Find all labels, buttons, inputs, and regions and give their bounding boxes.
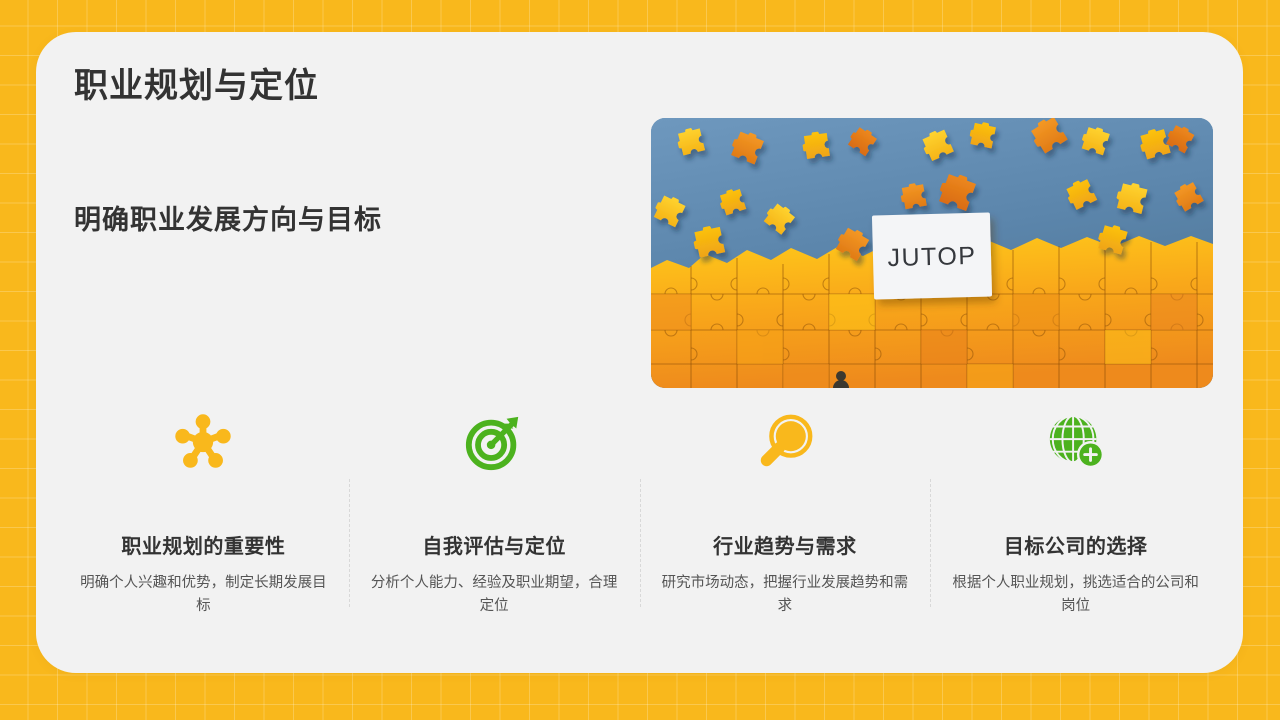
globe-plus-icon [1044, 410, 1108, 474]
feature-title: 职业规划的重要性 [121, 530, 285, 559]
feature-item-industry-trends[interactable]: 行业趋势与需求 研究市场动态，把握行业发展趋势和需求 [640, 402, 931, 632]
feature-item-target-company[interactable]: 目标公司的选择 根据个人职业规划，挑选适合的公司和岗位 [930, 402, 1221, 632]
feature-description: 分析个人能力、经验及职业期望，合理定位 [368, 572, 620, 619]
target-dart-icon [462, 410, 526, 474]
jutop-label: JUTOP [887, 242, 977, 272]
puzzle-photo-graphic: JUTOP [651, 118, 1213, 388]
feature-description: 研究市场动态，把握行业发展趋势和需求 [659, 572, 911, 619]
feature-title: 目标公司的选择 [1004, 530, 1148, 559]
section-subtitle: 明确职业发展方向与目标 [74, 198, 382, 237]
feature-item-self-assessment[interactable]: 自我评估与定位 分析个人能力、经验及职业期望，合理定位 [349, 402, 640, 632]
content-card: 职业规划与定位 明确职业发展方向与目标 [36, 32, 1243, 673]
feature-item-career-planning[interactable]: 职业规划的重要性 明确个人兴趣和优势，制定长期发展目标 [58, 402, 349, 632]
page-title: 职业规划与定位 [74, 58, 319, 107]
feature-description: 根据个人职业规划，挑选适合的公司和岗位 [950, 572, 1202, 619]
feature-title: 行业趋势与需求 [713, 530, 857, 559]
magnifier-icon [753, 410, 817, 474]
puzzle-pieces-photo: JUTOP [651, 118, 1213, 388]
feature-title: 自我评估与定位 [422, 530, 566, 559]
network-nodes-icon [171, 410, 235, 474]
feature-columns: 职业规划的重要性 明确个人兴趣和优势，制定长期发展目标 [58, 402, 1221, 632]
feature-description: 明确个人兴趣和优势，制定长期发展目标 [77, 572, 329, 619]
